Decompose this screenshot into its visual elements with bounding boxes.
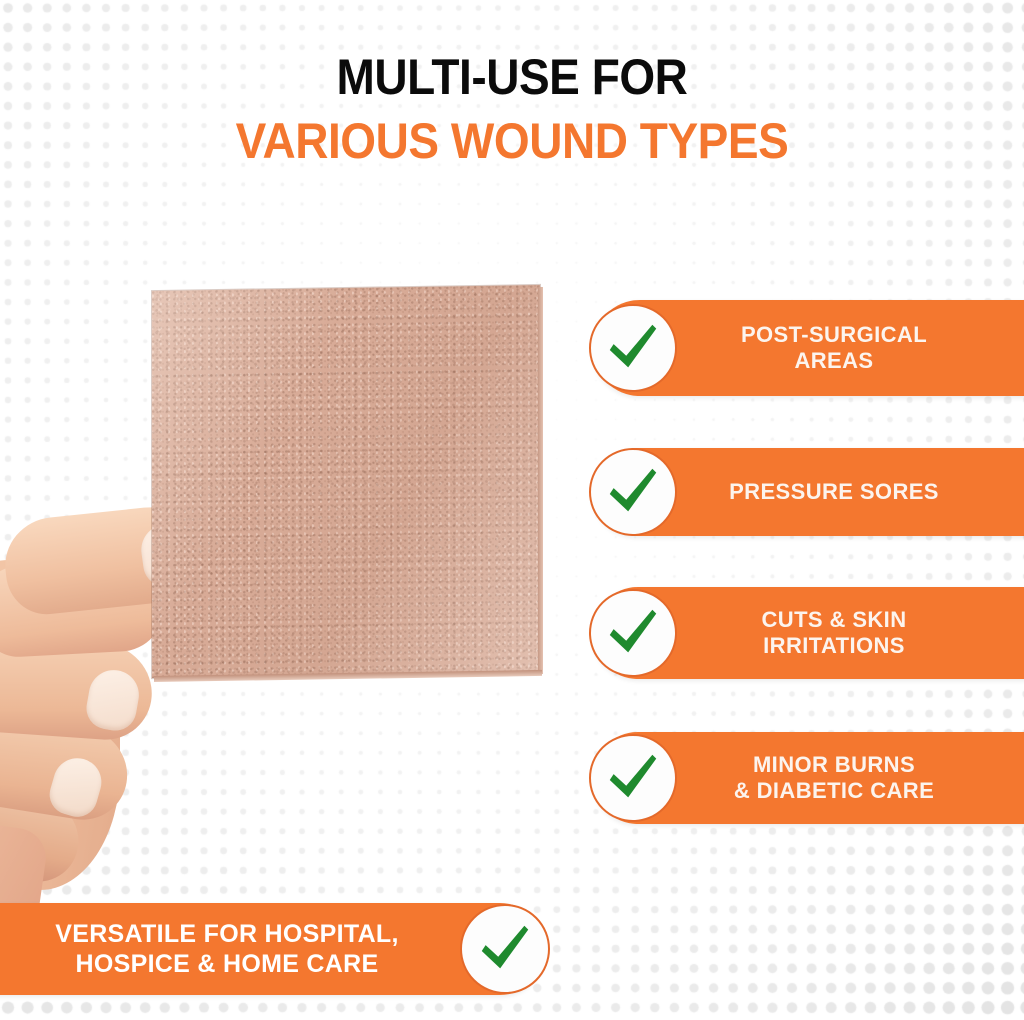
headline-line-2: VARIOUS WOUND TYPES xyxy=(41,116,983,166)
headline-line-1: MULTI-USE FOR xyxy=(41,52,983,102)
check-icon xyxy=(589,589,677,677)
page-title: MULTI-USE FOR VARIOUS WOUND TYPES xyxy=(0,52,1024,166)
feature-item-post-surgical-areas[interactable]: POST-SURGICAL AREAS xyxy=(592,300,1024,396)
check-icon xyxy=(460,904,550,994)
feature-label: MINOR BURNS & DIABETIC CARE xyxy=(688,752,1024,804)
feature-label: PRESSURE SORES xyxy=(688,479,1024,505)
feature-item-cuts-skin-irritations[interactable]: CUTS & SKIN IRRITATIONS xyxy=(592,587,1024,679)
bottom-banner-versatile-care[interactable]: VERSATILE FOR HOSPITAL, HOSPICE & HOME C… xyxy=(0,903,546,995)
feature-item-pressure-sores[interactable]: PRESSURE SORES xyxy=(592,448,1024,536)
feature-item-minor-burns-diabetic-care[interactable]: MINOR BURNS & DIABETIC CARE xyxy=(592,732,1024,824)
check-icon xyxy=(589,448,677,536)
check-icon xyxy=(589,734,677,822)
check-icon xyxy=(589,304,677,392)
feature-label: CUTS & SKIN IRRITATIONS xyxy=(688,607,1024,659)
infographic-stage: MULTI-USE FOR VARIOUS WOUND TYPES xyxy=(0,0,1024,1020)
feature-label: POST-SURGICAL AREAS xyxy=(688,322,1024,374)
